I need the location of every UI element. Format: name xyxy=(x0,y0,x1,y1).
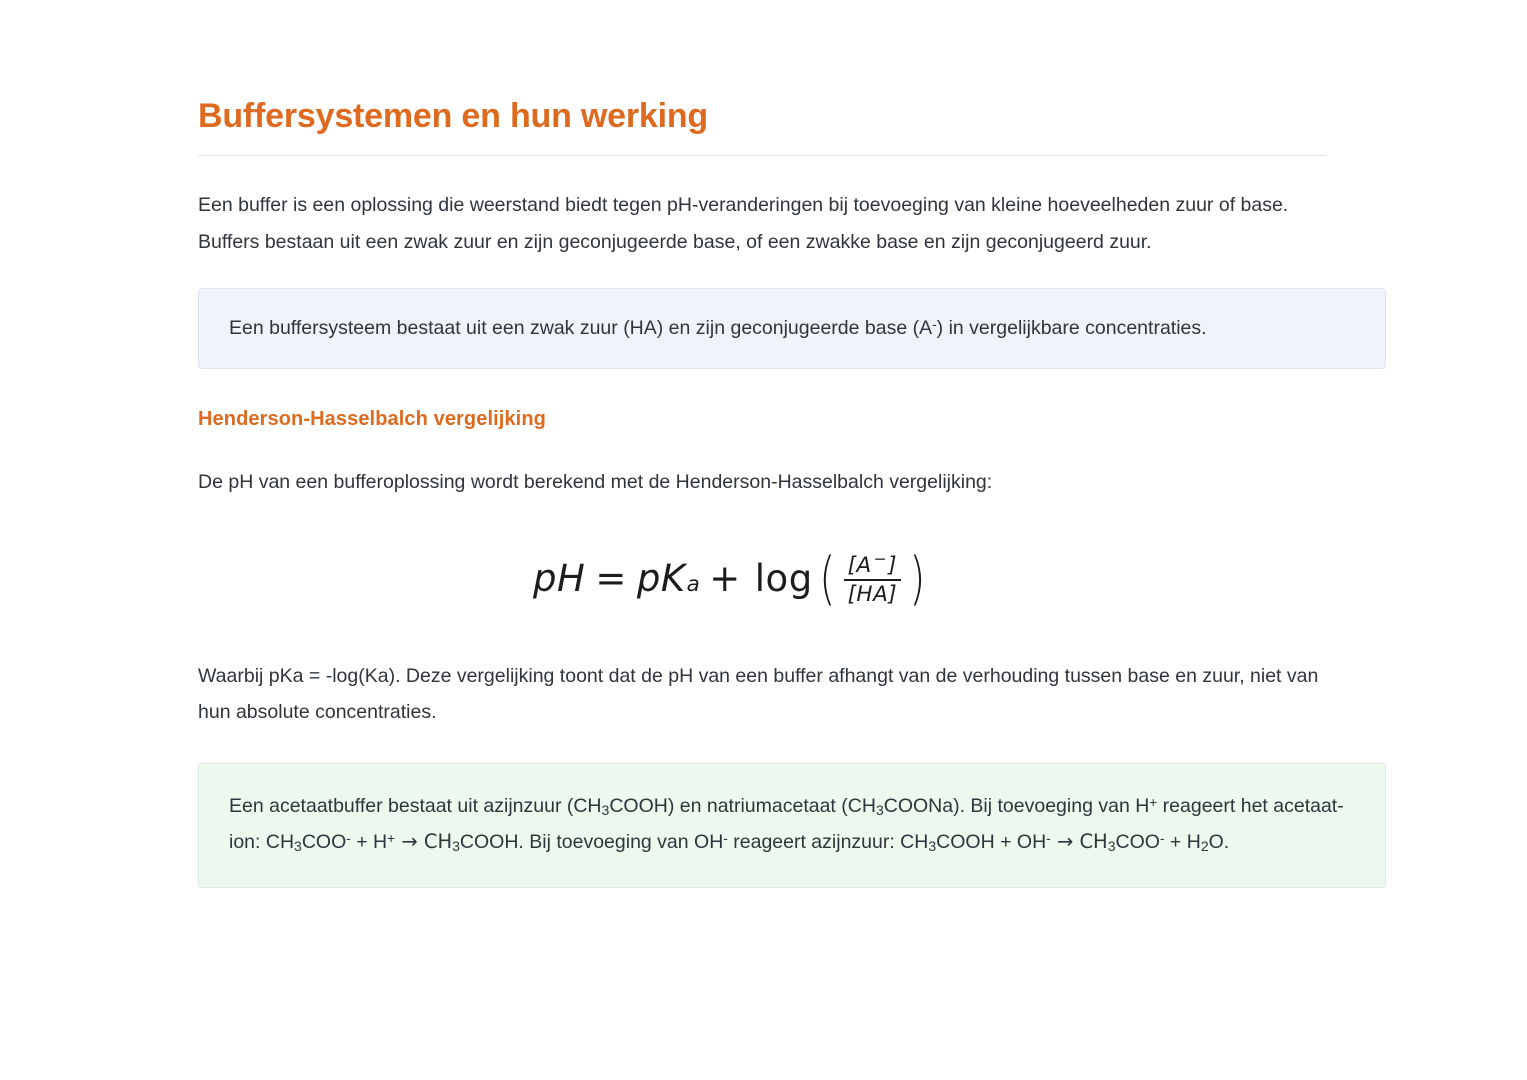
title-divider xyxy=(198,155,1326,156)
success-sub-5: 3 xyxy=(928,838,936,854)
success-seg-3: COONa). Bij toevoeging van H xyxy=(884,795,1150,817)
success-sub-4: 3 xyxy=(452,838,460,854)
success-seg-13: + H xyxy=(1165,831,1201,853)
formula-numerator-text: [A xyxy=(848,553,872,578)
success-sub-3: 3 xyxy=(294,838,302,854)
formula-paren-close: ) xyxy=(909,558,925,599)
success-sub-2: 3 xyxy=(876,802,884,818)
success-sub-7: 2 xyxy=(1201,838,1209,854)
info-callout-text: Een buffersysteem bestaat uit een zwak z… xyxy=(229,310,1357,346)
info-callout-text-part-2: ) in vergelijkbare concentraties. xyxy=(937,317,1207,339)
formula-paren-open: ( xyxy=(819,558,835,599)
success-seg-11: → CH xyxy=(1051,830,1108,853)
intro-paragraph: Een buffer is een oplossing die weerstan… xyxy=(198,187,1327,260)
success-seg-8: COOH. Bij toevoeging van OH xyxy=(460,831,723,853)
success-seg-5: COO xyxy=(302,831,346,853)
success-seg-2: COOH) en natriumacetaat (CH xyxy=(609,795,876,817)
success-sub-6: 3 xyxy=(1108,838,1116,854)
formula-fraction: [A−] [HA] xyxy=(844,550,902,608)
success-seg-9: reageert azijnzuur: CH xyxy=(728,831,929,853)
explanation-paragraph: Waarbij pKa = -log(Ka). Deze vergelijkin… xyxy=(198,658,1327,731)
formula-numerator-close: ] xyxy=(888,553,897,578)
success-callout: Een acetaatbuffer bestaat uit azijnzuur … xyxy=(198,763,1386,888)
formula-plus: + xyxy=(709,557,741,600)
page-title: Buffersystemen en hun werking xyxy=(198,96,1327,137)
formula-denominator: [HA] xyxy=(844,581,902,607)
info-callout-text-part-1: Een buffersysteem bestaat uit een zwak z… xyxy=(229,317,932,339)
success-seg-14: O. xyxy=(1209,831,1230,853)
formula-equals: = xyxy=(595,557,627,600)
success-seg-6: + H xyxy=(351,831,387,853)
success-seg-12: COO xyxy=(1116,831,1160,853)
success-sup-3: + xyxy=(387,831,395,846)
formula-log-label: log xyxy=(755,557,813,600)
success-seg-1: Een acetaatbuffer bestaat uit azijnzuur … xyxy=(229,795,602,817)
document-page: Buffersystemen en hun werking Een buffer… xyxy=(0,0,1527,1080)
formula-numerator-superscript: − xyxy=(874,550,887,568)
success-callout-text: Een acetaatbuffer bestaat uit azijnzuur … xyxy=(229,788,1357,861)
formula-term-p: p xyxy=(637,557,661,600)
henderson-hasselbalch-formula: pH = pKa + log ( [A−] [HA] ) xyxy=(533,550,932,608)
success-seg-7: → CH xyxy=(395,830,452,853)
success-seg-10: COOH + OH xyxy=(936,831,1046,853)
section-lead-paragraph: De pH van een bufferoplossing wordt bere… xyxy=(198,464,1327,500)
info-callout: Een buffersysteem bestaat uit een zwak z… xyxy=(198,288,1386,369)
formula-term-K: K xyxy=(661,557,686,600)
section-heading: Henderson-Hasselbalch vergelijking xyxy=(198,405,1327,433)
formula-numerator: [A−] xyxy=(844,550,901,581)
formula-lhs: pH xyxy=(533,557,585,600)
formula-term-K-subscript: a xyxy=(687,572,701,597)
formula-block: pH = pKa + log ( [A−] [HA] ) xyxy=(198,531,1327,627)
